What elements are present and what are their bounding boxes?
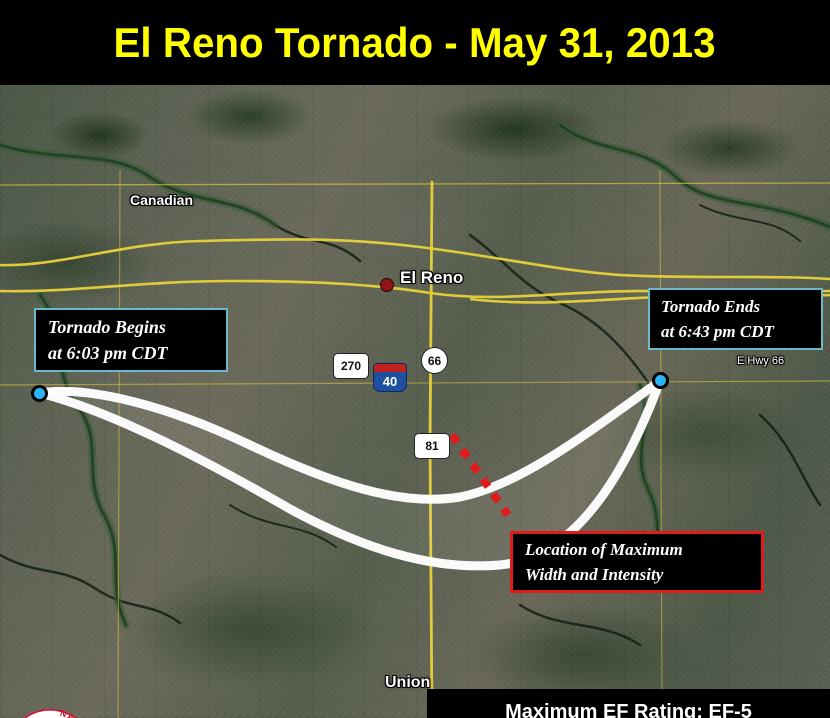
map-label-canadian: Canadian <box>130 192 193 208</box>
route-shield-us-81: 81 <box>414 433 450 459</box>
interstate-shield-number: 40 <box>383 372 397 391</box>
callout-begins-line-2: at 6:03 pm CDT <box>48 340 226 366</box>
nws-branding: NATIONAL WEATHER SERVICE <box>0 703 420 718</box>
route-shield-us-66: 66 <box>421 347 448 374</box>
callout-tornado-begins: Tornado Begins at 6:03 pm CDT <box>34 308 228 372</box>
route-shield-interstate-40: 40 <box>373 363 407 392</box>
tornado-start-marker <box>31 385 48 402</box>
route-shield-us-270: 270 <box>333 353 369 379</box>
tornado-map-graphic: El Reno Tornado - May 31, 2013 <box>0 0 830 718</box>
title-banner: El Reno Tornado - May 31, 2013 <box>0 0 830 85</box>
nws-text-block: National Weather Service Norman Forecast… <box>100 713 400 718</box>
city-marker-el-reno <box>380 278 394 292</box>
callout-ends-line-2: at 6:43 pm CDT <box>661 319 821 344</box>
map-label-e-hwy-66: E Hwy 66 <box>737 355 784 367</box>
stat-max-ef-rating: Maximum EF Rating: EF-5 <box>505 695 752 718</box>
map-label-el-reno: El Reno <box>400 268 463 288</box>
interstate-shield-banner <box>374 364 406 372</box>
callout-ends-line-1: Tornado Ends <box>661 294 821 319</box>
callout-maxwidth-line-1: Location of Maximum <box>525 537 761 562</box>
map-label-union-city: Union <box>385 674 430 692</box>
map-vector-overlay <box>0 85 830 718</box>
nws-logo: NATIONAL WEATHER SERVICE <box>4 707 96 718</box>
satellite-map[interactable]: Canadian El Reno E Hwy 66 Union 270 66 8… <box>0 85 830 718</box>
callout-tornado-ends: Tornado Ends at 6:43 pm CDT <box>648 288 823 350</box>
statistics-box: Maximum EF Rating: EF-5 Maximum Path Wid… <box>427 689 830 718</box>
nws-line-national-weather-service: National Weather Service <box>100 713 400 718</box>
callout-maxwidth-line-2: Width and Intensity <box>525 562 761 587</box>
page-title: El Reno Tornado - May 31, 2013 <box>114 19 716 67</box>
callout-max-width-intensity: Location of Maximum Width and Intensity <box>510 531 764 593</box>
tornado-end-marker <box>652 372 669 389</box>
callout-begins-line-1: Tornado Begins <box>48 314 226 340</box>
